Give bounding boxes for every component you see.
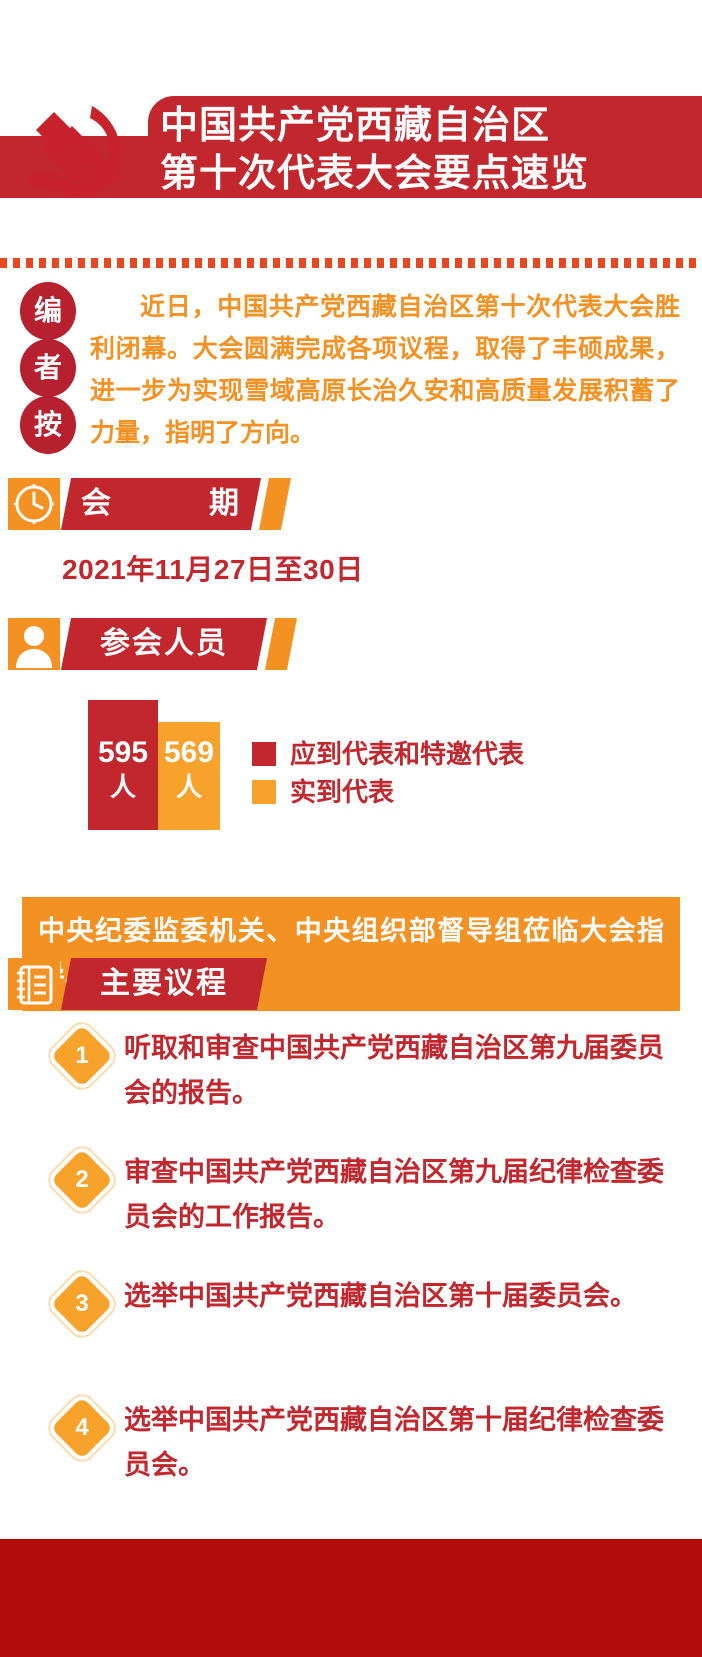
list-item: 3 选举中国共产党西藏自治区第十届委员会。 [0,1278,702,1356]
bar-unit-actual: 人 [158,772,220,802]
editor-note-text: 近日，中国共产党西藏自治区第十次代表大会胜利闭幕。大会圆满完成各项议程，取得了丰… [90,286,680,454]
agenda-text-3: 选举中国共产党西藏自治区第十届委员会。 [124,1274,670,1319]
editor-note-badge: 编 者 按 [20,282,76,454]
agenda-number-4: 4 [60,1406,104,1450]
section-title-attendees: 参会人员 [66,618,262,670]
legend-swatch-actual [252,780,276,804]
clock-icon [8,478,60,530]
agenda-text-4: 选举中国共产党西藏自治区第十届纪律检查委员会。 [124,1398,670,1488]
agenda-number-badge-4: 4 [51,1397,113,1459]
section-title-period: 会 期 [66,478,256,530]
page-title: 中国共产党西藏自治区 第十次代表大会要点速览 [160,102,700,198]
agenda-number-1: 1 [60,1034,104,1078]
footer-bar [0,1539,702,1657]
dotted-divider [0,258,702,268]
bar-actual-delegates: 569 人 [158,722,220,830]
notebook-icon [8,958,60,1010]
section-title-banner-agenda: 主要议程 [61,958,267,1010]
agenda-text-1: 听取和审查中国共产党西藏自治区第九届委员会的报告。 [124,1026,670,1116]
agenda-number-badge-2: 2 [51,1149,113,1211]
legend-swatch-expected [252,742,276,766]
chart-legend: 应到代表和特邀代表 实到代表 [252,740,524,816]
infographic-page: 中国共产党西藏自治区 第十次代表大会要点速览 编 者 按 近日，中国共产党西藏自… [0,0,702,1657]
bar-value-actual: 569 [158,736,220,770]
editor-badge-char-3: 按 [20,396,76,454]
section-banner-tail-attendees [265,618,297,670]
section-title-banner-period: 会 期 [61,478,261,530]
list-item: 2 审查中国共产党西藏自治区第九届纪律检查委员会的工作报告。 [0,1154,702,1232]
editor-note-block: 编 者 按 近日，中国共产党西藏自治区第十次代表大会胜利闭幕。大会圆满完成各项议… [0,282,702,457]
legend-item-expected: 应到代表和特邀代表 [252,740,524,768]
list-item: 1 听取和审查中国共产党西藏自治区第九届委员会的报告。 [0,1030,702,1108]
section-banner-tail-period [259,478,291,530]
bar-unit-expected: 人 [88,772,158,802]
list-item: 4 选举中国共产党西藏自治区第十届纪律检查委员会。 [0,1402,702,1480]
agenda-number-2: 2 [60,1158,104,1202]
editor-badge-char-2: 者 [20,339,76,397]
section-title-banner-attendees: 参会人员 [61,618,267,670]
legend-label-actual: 实到代表 [290,778,394,806]
agenda-number-badge-1: 1 [51,1025,113,1087]
hammer-sickle-party-emblem-icon [14,100,138,204]
editor-badge-char-1: 编 [20,282,76,340]
agenda-text-2: 审查中国共产党西藏自治区第九届纪律检查委员会的工作报告。 [124,1150,670,1240]
agenda-number-3: 3 [60,1282,104,1326]
meeting-date: 2021年11月27日至30日 [62,548,364,588]
legend-item-actual: 实到代表 [252,778,524,806]
person-icon [8,618,60,670]
legend-label-expected: 应到代表和特邀代表 [290,740,524,768]
bar-value-expected: 595 [88,736,158,770]
page-header: 中国共产党西藏自治区 第十次代表大会要点速览 [0,48,702,160]
section-title-agenda: 主要议程 [66,958,262,1010]
bar-expected-delegates: 595 人 [88,700,158,830]
agenda-number-badge-3: 3 [51,1273,113,1335]
agenda-list: 1 听取和审查中国共产党西藏自治区第九届委员会的报告。 2 审查中国共产党西藏自… [0,1030,702,1498]
